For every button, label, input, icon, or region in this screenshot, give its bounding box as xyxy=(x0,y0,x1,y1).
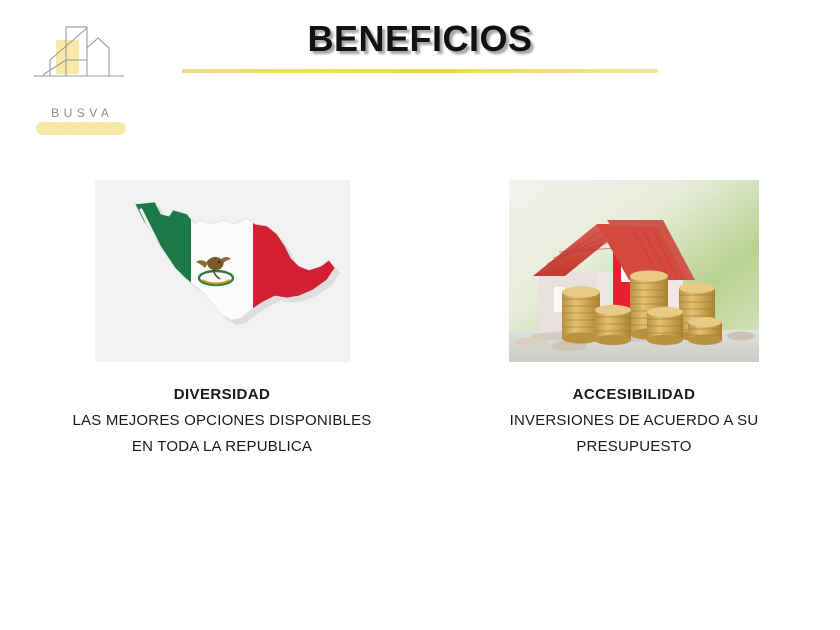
house-model-with-coin-stacks-image xyxy=(509,180,759,362)
brand-name: BUSVA xyxy=(28,106,132,120)
benefit-caption-diversidad: DIVERSIDAD LAS MEJORES OPCIONES DISPONIB… xyxy=(22,384,422,460)
benefit-title: DIVERSIDAD xyxy=(22,384,422,406)
brand-logo: BUSVA INMOBILIARIA xyxy=(28,24,132,116)
benefit-card-diversidad: DIVERSIDAD LAS MEJORES OPCIONES DISPONIB… xyxy=(22,180,422,460)
brand-tagline: INMOBILIARIA xyxy=(36,122,126,135)
benefit-body-line-2: EN TODA LA REPUBLICA xyxy=(22,434,422,460)
benefit-title: ACCESIBILIDAD xyxy=(448,384,820,406)
title-divider xyxy=(182,69,658,73)
benefit-body-line-1: INVERSIONES DE ACUERDO A SU xyxy=(448,408,820,434)
benefit-body-line-2: PRESUPUESTO xyxy=(448,434,820,460)
mexico-map-flag-image xyxy=(95,180,350,362)
benefit-body: INVERSIONES DE ACUERDO A SU PRESUPUESTO xyxy=(448,408,820,460)
benefit-caption-accesibilidad: ACCESIBILIDAD INVERSIONES DE ACUERDO A S… xyxy=(448,384,820,460)
benefit-card-accesibilidad: ACCESIBILIDAD INVERSIONES DE ACUERDO A S… xyxy=(448,180,820,460)
benefit-body-line-1: LAS MEJORES OPCIONES DISPONIBLES xyxy=(22,408,422,434)
brand-tagline-pill: INMOBILIARIA xyxy=(36,122,126,135)
benefit-body: LAS MEJORES OPCIONES DISPONIBLES EN TODA… xyxy=(22,408,422,460)
page-title: BENEFICIOS xyxy=(182,18,658,60)
building-outline-logo-icon xyxy=(28,24,132,80)
